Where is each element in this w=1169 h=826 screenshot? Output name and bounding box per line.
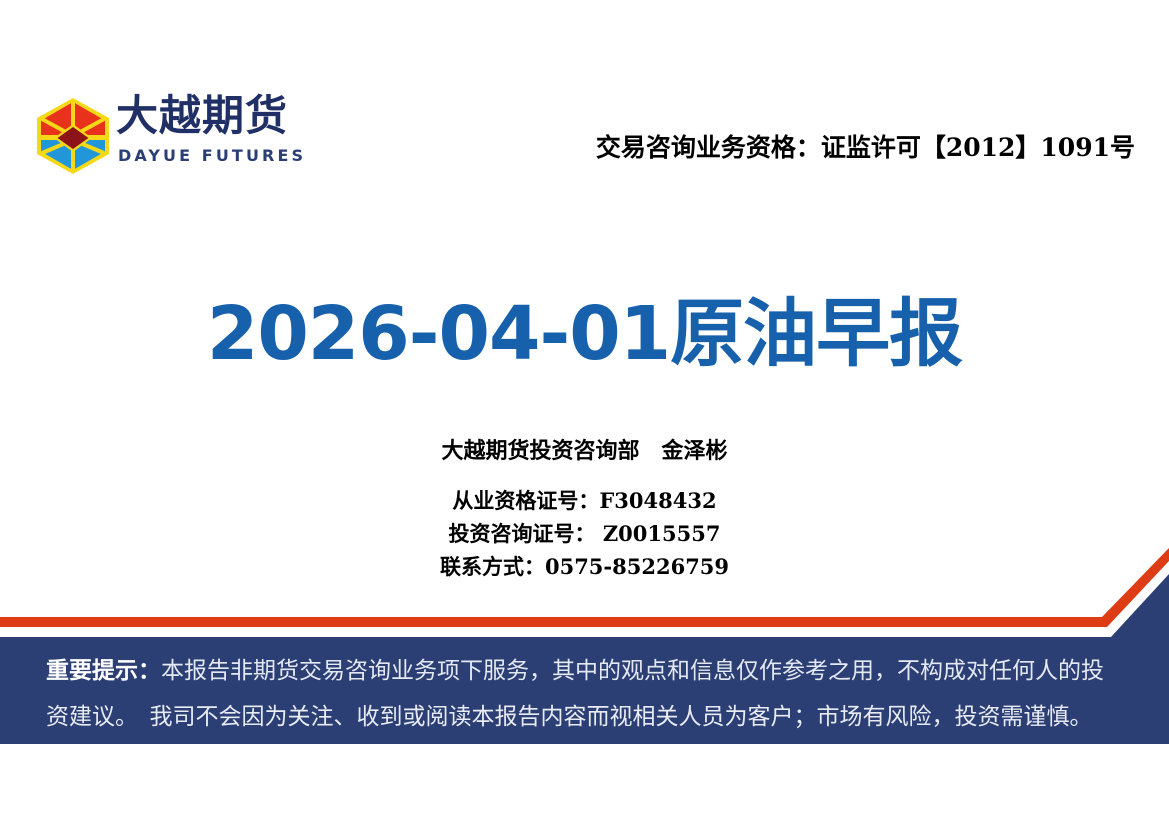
- logo-english-name: DAYUE FUTURES: [118, 146, 306, 165]
- dayue-hexagon-logo-icon: [34, 96, 112, 176]
- disclaimer-line-2: 资建议。 我司不会因为关注、收到或阅读本报告内容而视相关人员为客户；市场有风险，…: [46, 694, 1126, 740]
- practitioner-certificate-number: 从业资格证号：F3048432: [0, 484, 1169, 517]
- investment-consulting-certificate-number: 投资咨询证号： Z0015557: [0, 517, 1169, 550]
- author-department-and-name: 大越期货投资咨询部 金泽彬: [0, 434, 1169, 468]
- banner-orange-stripe: [0, 548, 1169, 627]
- qualification-statement: 交易咨询业务资格：证监许可【2012】1091号: [596, 128, 1135, 164]
- disclaimer-label: 重要提示：: [46, 657, 161, 684]
- logo-wordmark: 大越期货 DAYUE FUTURES: [116, 94, 296, 176]
- report-cover-page: 大越期货 DAYUE FUTURES 交易咨询业务资格：证监许可【2012】10…: [0, 0, 1169, 826]
- disclaimer-text: 重要提示：本报告非期货交易咨询业务项下服务，其中的观点和信息仅作参考之用，不构成…: [46, 648, 1126, 740]
- company-logo: 大越期货 DAYUE FUTURES: [34, 94, 294, 178]
- disclaimer-line-1: 本报告非期货交易咨询业务项下服务，其中的观点和信息仅作参考之用，不构成对任何人的…: [161, 658, 1104, 684]
- disclaimer-first-line: 重要提示：本报告非期货交易咨询业务项下服务，其中的观点和信息仅作参考之用，不构成…: [46, 648, 1126, 694]
- logo-chinese-name: 大越期货: [116, 92, 288, 140]
- page-title: 2026-04-01原油早报: [0, 288, 1169, 380]
